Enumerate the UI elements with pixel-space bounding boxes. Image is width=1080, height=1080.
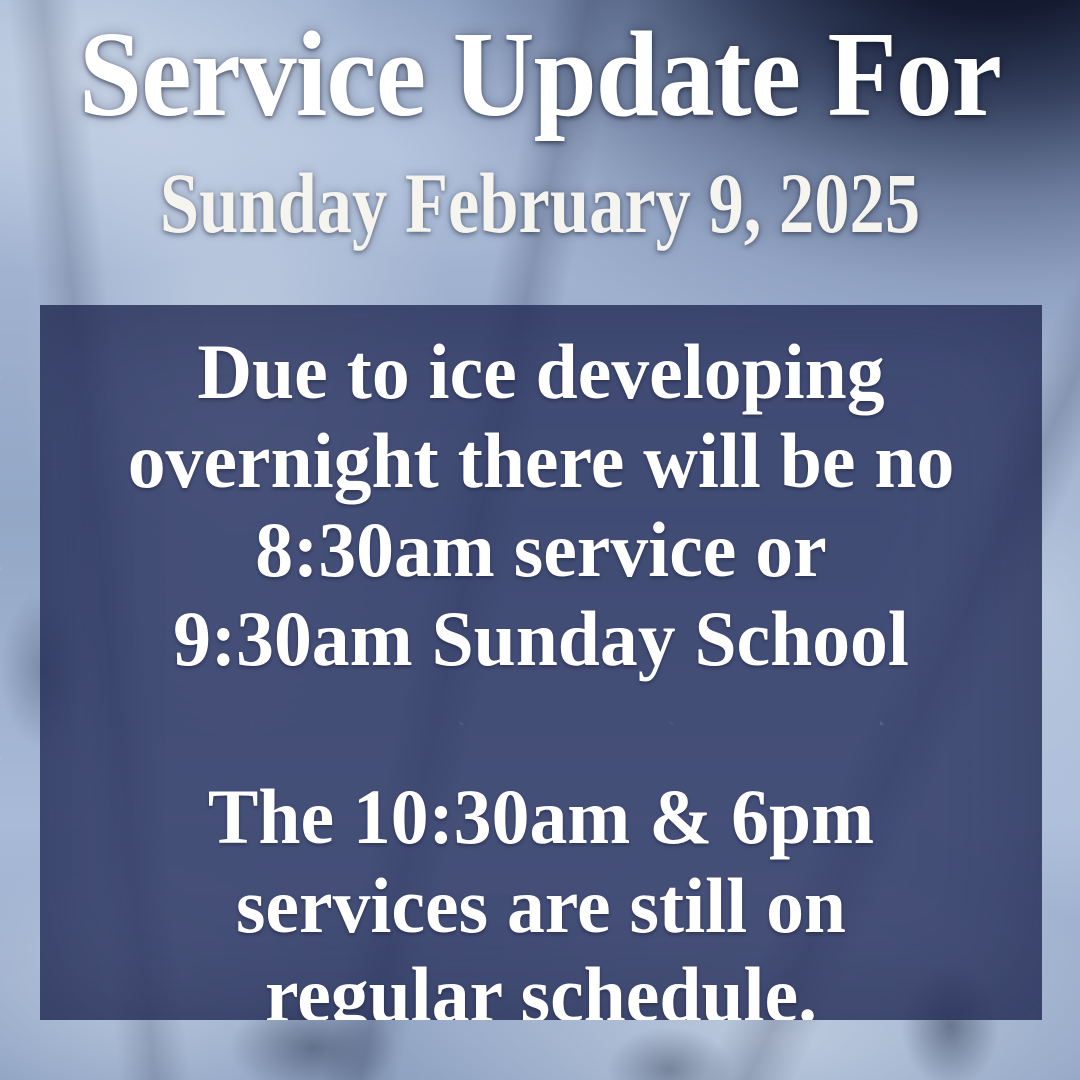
still-on-paragraph: The 10:30am & 6pm services are still on … (58, 772, 1024, 1020)
service-update-poster: Service Update For Sunday February 9, 20… (0, 0, 1080, 1080)
message-line: regular schedule. (72, 950, 1009, 1020)
message-line: The 10:30am & 6pm (72, 772, 1009, 861)
message-line: Due to ice developing (72, 327, 1009, 416)
message-line: 9:30am Sunday School (72, 594, 1009, 683)
cancellation-paragraph: Due to ice developing overnight there wi… (58, 327, 1024, 683)
message-body: Due to ice developing overnight there wi… (40, 305, 1042, 1020)
message-line: 8:30am service or (72, 505, 1009, 594)
poster-header: Service Update For Sunday February 9, 20… (0, 0, 1080, 300)
message-panel: Due to ice developing overnight there wi… (40, 305, 1042, 1020)
page-title: Service Update For (38, 14, 1042, 136)
paragraph-spacer (58, 683, 1024, 772)
message-line: overnight there will be no (72, 416, 1009, 505)
page-subtitle-date: Sunday February 9, 2025 (97, 160, 983, 246)
message-line: services are still on (72, 861, 1009, 950)
